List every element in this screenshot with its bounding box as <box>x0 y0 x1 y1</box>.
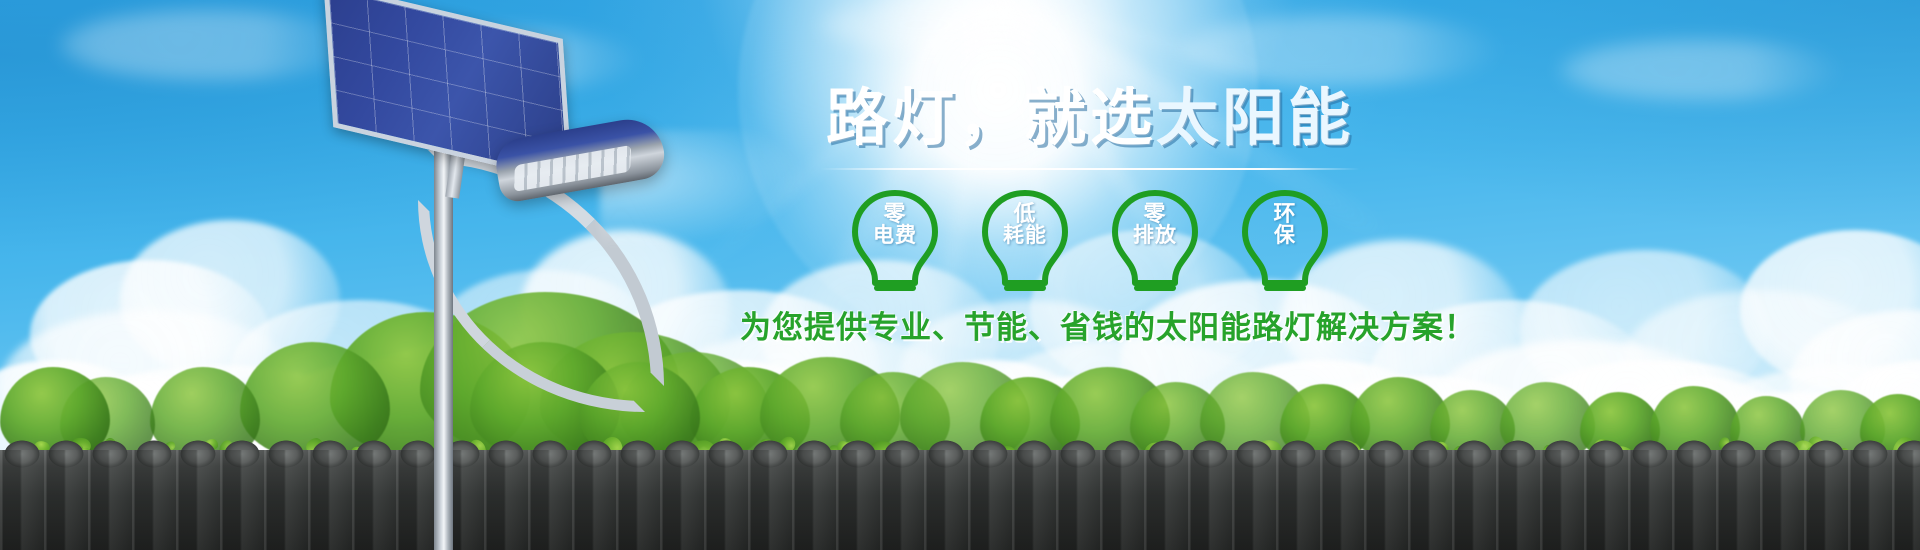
badge-text: 零电费 <box>847 188 943 248</box>
headline-part-2: 太阳能 <box>1156 84 1354 153</box>
tiled-roof-wall <box>0 450 1920 550</box>
tagline: 为您提供专业、节能、省钱的太阳能路灯解决方案！ <box>740 302 1440 347</box>
page-title: 路灯，就选太阳能 <box>740 88 1440 150</box>
feature-badge-list: 零电费低耗能零排放环保 <box>740 188 1440 292</box>
badge-eco-friendly: 环保 <box>1237 188 1333 292</box>
badge-word: 电费 <box>847 225 943 248</box>
badge-number: 环 <box>1237 202 1333 225</box>
solar-street-lamp <box>300 0 720 550</box>
banner-copy: 路灯，就选太阳能 零电费低耗能零排放环保 为您提供专业、节能、省钱的太阳能路灯解… <box>740 88 1440 347</box>
lamp-pole <box>434 150 453 550</box>
badge-zero-electricity-fee: 零电费 <box>847 188 943 292</box>
badge-word: 排放 <box>1107 225 1203 248</box>
badge-number: 低 <box>977 202 1073 225</box>
divider <box>820 168 1360 170</box>
badge-text: 环保 <box>1237 188 1333 248</box>
solar-street-lamp-banner: 路灯，就选太阳能 零电费低耗能零排放环保 为您提供专业、节能、省钱的太阳能路灯解… <box>0 0 1920 550</box>
badge-low-energy: 低耗能 <box>977 188 1073 292</box>
badge-zero-emission: 零排放 <box>1107 188 1203 292</box>
badge-number: 零 <box>847 202 943 225</box>
badge-text: 零排放 <box>1107 188 1203 248</box>
badge-text: 低耗能 <box>977 188 1073 248</box>
headline-part-1: 路灯，就选 <box>826 84 1156 153</box>
badge-word: 保 <box>1237 225 1333 248</box>
badge-number: 零 <box>1107 202 1203 225</box>
badge-word: 耗能 <box>977 225 1073 248</box>
wall-ridges <box>0 450 1920 550</box>
